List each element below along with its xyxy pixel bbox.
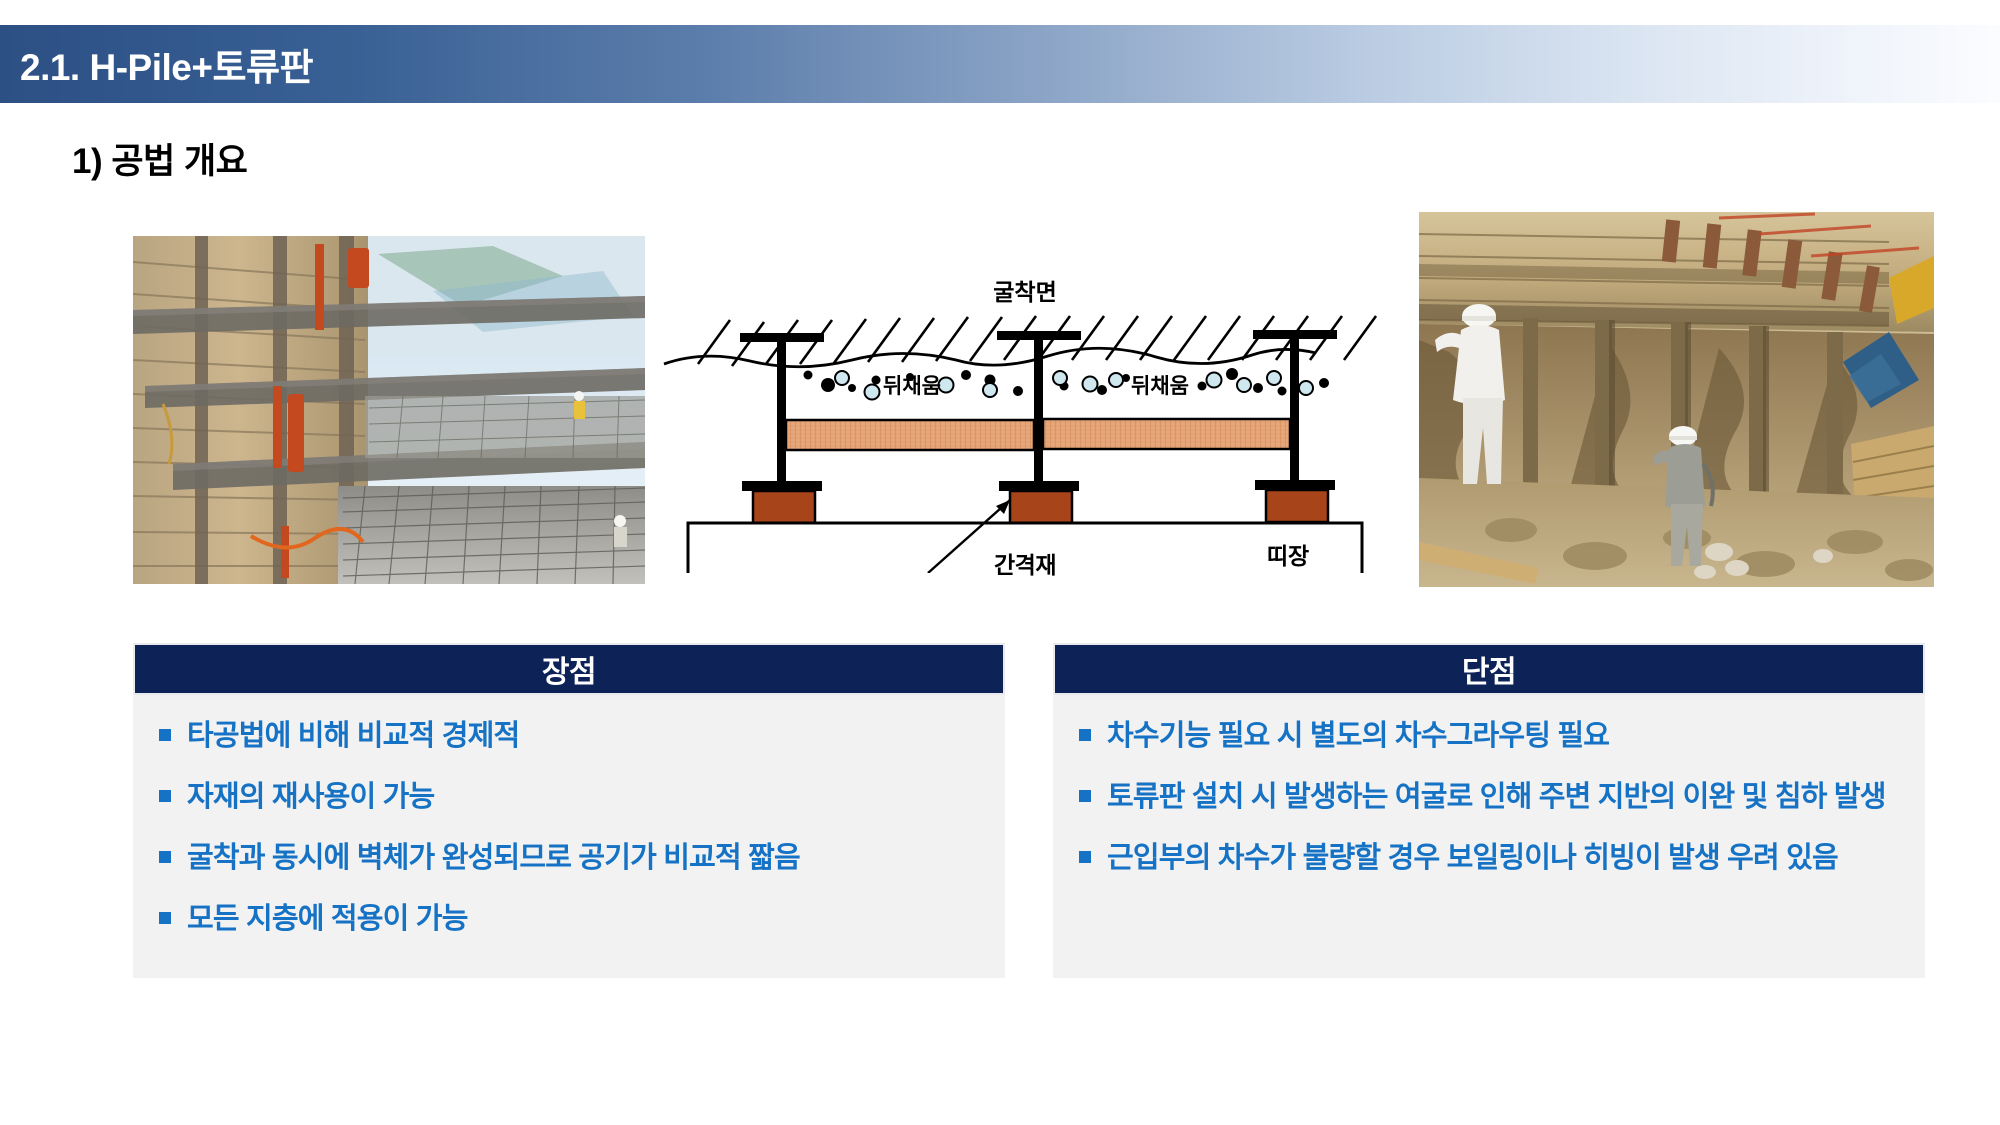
- disadvantages-panel-header: 단점: [1053, 643, 1925, 695]
- page-title: 2.1. H-Pile+토류판: [20, 37, 313, 91]
- advantage-text: 굴착과 동시에 벽체가 완성되므로 공기가 비교적 짧음: [187, 839, 800, 878]
- advantage-text: 자재의 재사용이 가능: [187, 778, 434, 817]
- list-item: 모든 지층에 적용이 가능: [159, 900, 979, 939]
- backfill-zone-right: 뒤채움: [1053, 368, 1329, 398]
- label-backfill-left: 뒤채움: [883, 375, 941, 398]
- square-bullet-icon: [1079, 790, 1091, 802]
- list-item: 토류판 설치 시 발생하는 여굴로 인해 주변 지반의 이완 및 침하 발생: [1079, 778, 1899, 817]
- list-item: 굴착과 동시에 벽체가 완성되므로 공기가 비교적 짧음: [159, 839, 979, 878]
- lagging-installation-photo: [1419, 212, 1934, 587]
- disadvantages-panel-body: 차수기능 필요 시 별도의 차수그라우팅 필요 토류판 설치 시 발생하는 여굴…: [1053, 695, 1925, 978]
- list-item: 자재의 재사용이 가능: [159, 778, 979, 817]
- advantage-text: 타공법에 비해 비교적 경제적: [187, 717, 519, 756]
- disadvantage-text: 토류판 설치 시 발생하는 여굴로 인해 주변 지반의 이완 및 침하 발생: [1107, 778, 1886, 817]
- backfill-zone-left: 뒤채움: [804, 370, 1024, 400]
- advantages-panel: 장점 타공법에 비해 비교적 경제적 자재의 재사용이 가능 굴착과 동시에 벽…: [133, 643, 1005, 978]
- square-bullet-icon: [159, 912, 171, 924]
- slide-header-bar: 2.1. H-Pile+토류판: [0, 25, 2000, 103]
- disadvantage-text: 근입부의 차수가 불량할 경우 보일링이나 히빙이 발생 우려 있음: [1107, 839, 1838, 878]
- ground-surface-line: [664, 348, 1316, 367]
- excavation-site-photo: [133, 236, 645, 584]
- advantages-panel-header: 장점: [133, 643, 1005, 695]
- advantages-title: 장점: [542, 647, 596, 691]
- square-bullet-icon: [159, 790, 171, 802]
- lagging-installation-illustration: [1419, 212, 1934, 587]
- label-excavation-face: 굴착면: [993, 279, 1056, 305]
- disadvantage-text: 차수기능 필요 시 별도의 차수그라우팅 필요: [1107, 717, 1609, 756]
- diagram-svg: 굴착면: [660, 268, 1390, 573]
- label-spacer-caption: 간격재: [660, 546, 1390, 580]
- advantages-panel-body: 타공법에 비해 비교적 경제적 자재의 재사용이 가능 굴착과 동시에 벽체가 …: [133, 695, 1005, 978]
- disadvantages-panel: 단점 차수기능 필요 시 별도의 차수그라우팅 필요 토류판 설치 시 발생하는…: [1053, 643, 1925, 978]
- list-item: 타공법에 비해 비교적 경제적: [159, 717, 979, 756]
- square-bullet-icon: [1079, 851, 1091, 863]
- spacer-block: [753, 490, 1328, 523]
- section-heading: 1) 공법 개요: [72, 133, 247, 184]
- excavation-site-illustration: [133, 236, 645, 584]
- list-item: 차수기능 필요 시 별도의 차수그라우팅 필요: [1079, 717, 1899, 756]
- label-backfill-right: 뒤채움: [1131, 375, 1189, 398]
- square-bullet-icon: [159, 851, 171, 863]
- h-pile-lagging-section-diagram: 굴착면: [660, 268, 1390, 573]
- list-item: 근입부의 차수가 불량할 경우 보일링이나 히빙이 발생 우려 있음: [1079, 839, 1899, 878]
- square-bullet-icon: [1079, 729, 1091, 741]
- advantage-text: 모든 지층에 적용이 가능: [187, 900, 468, 939]
- square-bullet-icon: [159, 729, 171, 741]
- disadvantages-title: 단점: [1462, 647, 1516, 691]
